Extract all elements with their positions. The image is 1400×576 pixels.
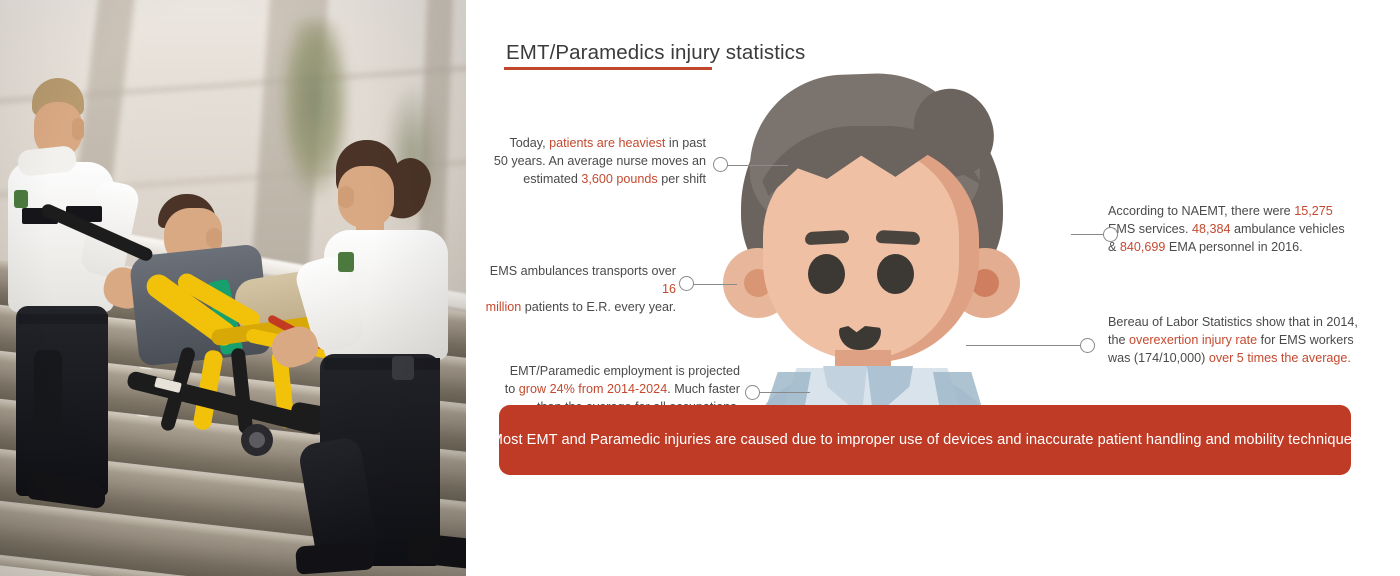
eye-right bbox=[877, 254, 914, 294]
callout-line: to grow 24% from 2014-2024. Much faster bbox=[504, 380, 740, 398]
callout-line: million patients to E.R. every year. bbox=[484, 298, 676, 316]
leader-line-2 bbox=[693, 284, 737, 285]
callout-line: EMT/Paramedic employment is projected bbox=[504, 362, 740, 380]
infographic-page: EMT/Paramedics injury statistics bbox=[0, 0, 1400, 576]
callout-line: Bereau of Labor Statistics show that in … bbox=[1108, 313, 1394, 331]
callout-text: per shift bbox=[658, 172, 706, 186]
leader-line-3 bbox=[758, 392, 810, 393]
eyebrow-right bbox=[876, 230, 921, 245]
callout-patients-heaviest: Today, patients are heaviest in past50 y… bbox=[484, 134, 706, 188]
callout-text: Bereau of Labor Statistics show that in … bbox=[1108, 315, 1358, 329]
leader-dot-5 bbox=[1080, 338, 1095, 353]
callout-text: estimated bbox=[523, 172, 581, 186]
leader-dot-2 bbox=[679, 276, 694, 291]
summary-banner-text: Most EMT and Paramedic injuries are caus… bbox=[491, 432, 1360, 448]
callout-line: EMS ambulances transports over 16 bbox=[484, 262, 676, 298]
callout-highlight: patients are heaviest bbox=[549, 136, 665, 150]
leader-dot-3 bbox=[745, 385, 760, 400]
leader-dot-4 bbox=[1103, 227, 1118, 242]
callout-text: ambulance vehicles bbox=[1231, 222, 1345, 236]
callout-text: was (174/10,000) bbox=[1108, 351, 1209, 365]
callout-text: EMA personnel in 2016. bbox=[1165, 240, 1302, 254]
title-underline bbox=[504, 67, 712, 70]
leader-dot-1 bbox=[713, 157, 728, 172]
callout-highlight: overexertion injury rate bbox=[1129, 333, 1257, 347]
callout-line: 50 years. An average nurse moves an bbox=[484, 152, 706, 170]
emt-worker-right bbox=[316, 140, 466, 576]
callout-line: According to NAEMT, there were 15,275 bbox=[1108, 202, 1394, 220]
callout-text: to bbox=[505, 382, 519, 396]
leader-line-1 bbox=[726, 165, 788, 166]
callout-text: in past bbox=[665, 136, 706, 150]
callout-highlight: 3,600 pounds bbox=[581, 172, 657, 186]
callout-highlight: grow 24% from 2014-2024 bbox=[519, 382, 667, 396]
ems-stair-chair-photo bbox=[0, 0, 466, 576]
page-title: EMT/Paramedics injury statistics bbox=[506, 41, 805, 65]
leader-line-5 bbox=[966, 345, 1088, 346]
callout-line: was (174/10,000) over 5 times the averag… bbox=[1108, 349, 1394, 367]
callout-text: According to NAEMT, there were bbox=[1108, 204, 1294, 218]
callout-text: the bbox=[1108, 333, 1129, 347]
summary-banner: Most EMT and Paramedic injuries are caus… bbox=[499, 405, 1351, 475]
callout-line: Today, patients are heaviest in past bbox=[484, 134, 706, 152]
callout-text: patients to E.R. every year. bbox=[521, 300, 676, 314]
content-panel: EMT/Paramedics injury statistics bbox=[466, 0, 1400, 576]
callout-text: & bbox=[1108, 240, 1120, 254]
eyebrow-left bbox=[805, 230, 850, 245]
callout-highlight: 16 bbox=[662, 282, 676, 296]
callout-text: Today, bbox=[510, 136, 550, 150]
callout-text: EMS services. bbox=[1108, 222, 1192, 236]
callout-text: EMT/Paramedic employment is projected bbox=[510, 364, 740, 378]
callout-text: for EMS workers bbox=[1257, 333, 1354, 347]
callout-highlight: 840,699 bbox=[1120, 240, 1166, 254]
callout-ambulance-transports: EMS ambulances transports over 16million… bbox=[484, 262, 676, 316]
face bbox=[763, 146, 959, 360]
paramedic-character-illustration bbox=[719, 72, 1024, 462]
callout-highlight: over 5 times the average. bbox=[1209, 351, 1351, 365]
callout-highlight: 15,275 bbox=[1294, 204, 1333, 218]
callout-line: & 840,699 EMA personnel in 2016. bbox=[1108, 238, 1394, 256]
callout-text: 50 years. An average nurse moves an bbox=[494, 154, 706, 168]
callout-highlight: 48,384 bbox=[1192, 222, 1231, 236]
callout-text: . Much faster bbox=[667, 382, 740, 396]
eye-left bbox=[808, 254, 845, 294]
callout-line: EMS services. 48,384 ambulance vehicles bbox=[1108, 220, 1394, 238]
callout-line: estimated 3,600 pounds per shift bbox=[484, 170, 706, 188]
callout-line: the overexertion injury rate for EMS wor… bbox=[1108, 331, 1394, 349]
callout-text: EMS ambulances transports over bbox=[490, 264, 676, 278]
callout-highlight: million bbox=[486, 300, 522, 314]
